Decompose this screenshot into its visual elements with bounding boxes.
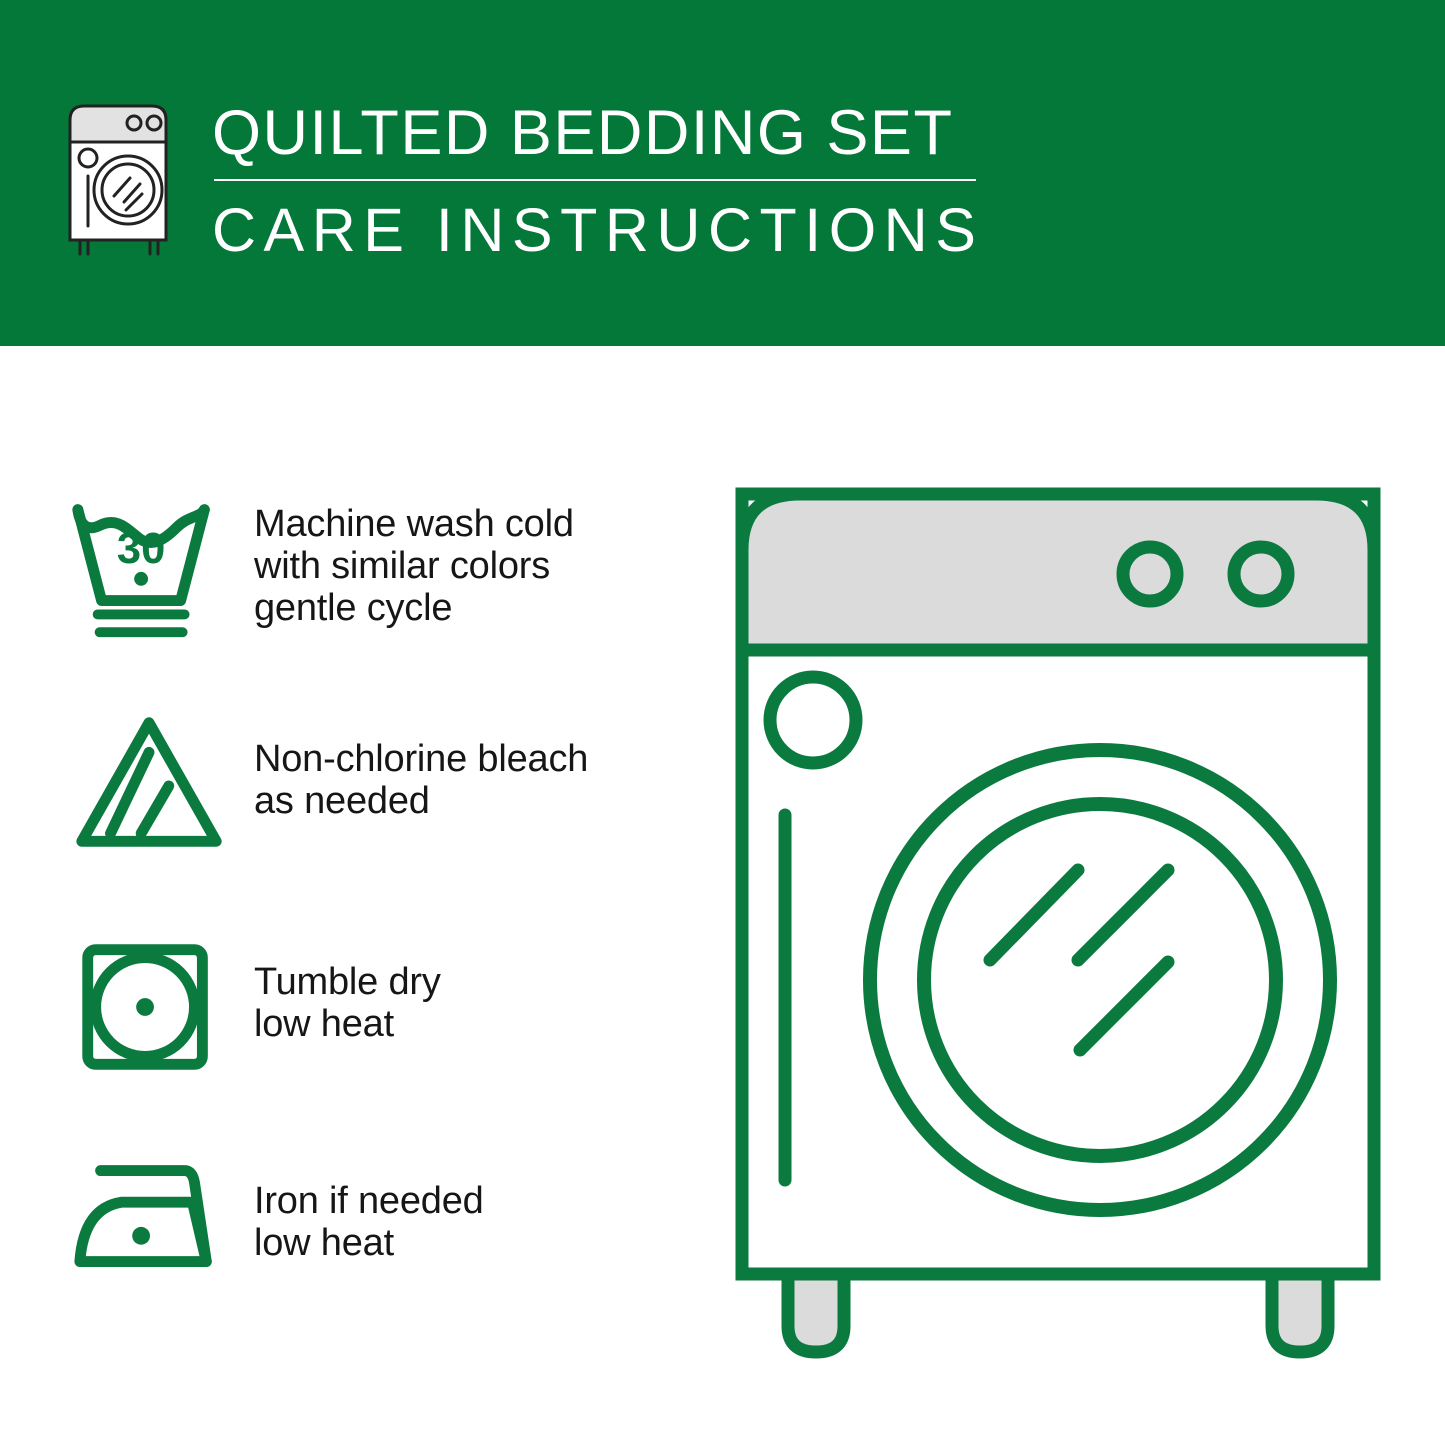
iron-low-heat-icon: [66, 1146, 234, 1296]
care-item-text-iron: Iron if needed low heat: [234, 1146, 686, 1264]
leg-right: [1272, 1274, 1328, 1352]
wash-temperature-value: 30: [117, 525, 165, 573]
page-title: QUILTED BEDDING SET: [212, 97, 1002, 169]
care-line: Machine wash cold: [254, 503, 686, 545]
care-instruction-list: 30 Machine wash cold with similar colors…: [0, 346, 700, 1445]
care-line: Tumble dry: [254, 961, 686, 1003]
title-divider: [214, 179, 976, 181]
care-item-tumble-dry: Tumble dry low heat: [66, 931, 686, 1081]
header-title-block: QUILTED BEDDING SET CARE INSTRUCTIONS: [212, 97, 1002, 265]
washing-machine-illustration: [728, 480, 1388, 1360]
care-item-text-tumble-dry: Tumble dry low heat: [234, 931, 686, 1045]
care-line: Non-chlorine bleach: [254, 738, 686, 780]
care-line: gentle cycle: [254, 587, 686, 629]
care-item-text-machine-wash: Machine wash cold with similar colors ge…: [234, 491, 686, 629]
care-item-iron: Iron if needed low heat: [66, 1146, 686, 1296]
care-line: low heat: [254, 1222, 686, 1264]
care-item-bleach: Non-chlorine bleach as needed: [66, 708, 686, 858]
control-panel: [742, 494, 1374, 650]
washing-machine-icon: [62, 98, 184, 258]
care-item-machine-wash: 30 Machine wash cold with similar colors…: [66, 491, 686, 641]
tumble-dry-low-heat-icon: [66, 931, 234, 1081]
care-line: as needed: [254, 780, 686, 822]
leg-left: [788, 1274, 844, 1352]
care-instructions-label: QUILTED BEDDING SET CARE INSTRUCTIONS: [0, 0, 1445, 1445]
header-band: QUILTED BEDDING SET CARE INSTRUCTIONS: [0, 0, 1445, 346]
care-line: with similar colors: [254, 545, 686, 587]
care-line: Iron if needed: [254, 1180, 686, 1222]
care-line: low heat: [254, 1003, 686, 1045]
care-item-text-bleach: Non-chlorine bleach as needed: [234, 708, 686, 822]
bleach-triangle-non-chlorine-icon: [66, 708, 234, 858]
page-subtitle: CARE INSTRUCTIONS: [212, 195, 1002, 265]
wash-tub-30-gentle-icon: 30: [66, 491, 234, 641]
